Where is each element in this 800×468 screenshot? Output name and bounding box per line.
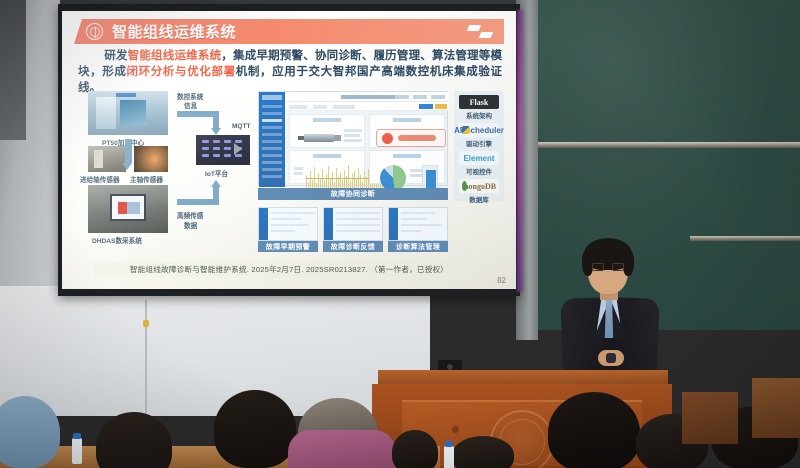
tech-caption-widgets: 可视控件	[454, 166, 504, 176]
thumb-algorithm-management	[388, 207, 448, 241]
left-wall-fixture	[0, 0, 26, 140]
label-spindle-sensor: 主轴传感器	[130, 174, 163, 184]
audience-head	[214, 390, 296, 468]
alarm-indicator	[376, 129, 446, 147]
audience-head	[392, 430, 438, 468]
dashboard-sidebar	[259, 92, 285, 187]
dashboard-primary-button[interactable]	[419, 104, 433, 109]
arrow-down-shaft-1	[125, 139, 132, 163]
tech-caption-database: 数据库	[454, 194, 504, 204]
label-cnc-info-line2: 信息	[184, 100, 197, 110]
slide-title-bar: 智能组线运维系统	[74, 19, 504, 44]
apscheduler-logo-icon: APScheduler	[459, 123, 499, 137]
alarm-dot-icon	[382, 133, 393, 144]
presentation-slide: 智能组线运维系统 研发智能组线运维系统，集成早期预警、协同诊断、履历管理、算法管…	[62, 11, 516, 289]
dashboard-card-distribution	[369, 150, 445, 184]
label-feed-axis-sensor: 进给轴传感器	[80, 174, 120, 184]
chalkboard-rail	[536, 142, 800, 148]
element-logo-icon: Element	[459, 151, 499, 165]
projection-screen: 智能组线运维系统 研发智能组线运维系统，集成早期预警、协同诊断、履历管理、算法管…	[58, 4, 520, 296]
whiteboard	[0, 286, 430, 416]
slide-caption: 智能组线故障诊断与智能维护系统. 2025年2月7日. 2025SR021382…	[94, 261, 484, 277]
thumb-early-warning	[258, 207, 318, 241]
audience-head	[96, 412, 172, 468]
thumb-diagnosis-feedback	[323, 207, 383, 241]
body-line1-pre: 研发	[104, 50, 128, 62]
arrow-elbow-top-v	[213, 111, 219, 129]
chair-back	[682, 392, 738, 444]
dashboard-screenshots: 故障协同诊断 故障早期预警 故障诊断反馈	[258, 91, 448, 256]
university-emblem-icon	[86, 23, 103, 40]
band-algorithm-management: 诊断算法管理	[388, 241, 448, 252]
arrow-down-head-1	[122, 163, 132, 170]
audience-shoulders	[288, 430, 396, 468]
screen-edge-glow	[517, 10, 523, 292]
data-flow-diagram: PT50加工中心 进给轴传感器 主轴传感器 DHDAS数采系统 数控系统 信息	[78, 91, 243, 251]
dashboard-toolbar	[285, 102, 449, 111]
photo-pt50-machining-center	[88, 91, 168, 135]
label-dhdas: DHDAS数采系统	[92, 235, 142, 245]
screen-pull-knob[interactable]	[143, 320, 149, 327]
screen-pull-cord[interactable]	[145, 300, 147, 420]
band-diagnosis-feedback: 故障诊断反馈	[323, 241, 383, 252]
body-line2-highlight: 闭环分析与优化部署	[127, 66, 236, 78]
photo-feed-axis-sensor	[88, 146, 126, 172]
dashboard-card-waveform	[289, 150, 365, 184]
chalkboard-rail-lower	[690, 236, 800, 241]
arrow-elbow-bottom-h	[177, 199, 219, 205]
water-bottle	[444, 446, 454, 468]
band-collaborative-diagnosis: 故障协同诊断	[258, 188, 448, 200]
band-early-warning: 故障早期预警	[258, 241, 318, 252]
audience-head	[452, 436, 514, 468]
dashboard-card-spindle	[289, 114, 365, 148]
tech-stack-panel: Flask 系统架构 APScheduler 驱动引擎 Element 可视控件…	[454, 91, 504, 201]
slide-body-text: 研发智能组线运维系统，集成早期预警、协同诊断、履历管理、算法管理等模块，形成闭环…	[78, 48, 502, 96]
label-hf-sensor-line1: 高频传感	[177, 210, 203, 220]
label-mqtt: MQTT	[232, 123, 242, 131]
body-line1-highlight: 智能组线运维系统	[128, 50, 222, 62]
corner-logo-icon	[468, 25, 494, 38]
slide-title: 智能组线运维系统	[112, 21, 236, 42]
arrow-head-to-iot-bottom	[211, 180, 221, 187]
dashboard-header	[285, 92, 449, 102]
flask-logo-icon: Flask	[459, 95, 499, 109]
photo-dhdas-system	[88, 185, 168, 233]
arrow-head-to-iot-top	[211, 128, 221, 135]
hands-holding-clicker	[598, 350, 624, 366]
dashboard-card-alarm	[369, 114, 445, 148]
arrow-head-mqtt	[234, 143, 242, 155]
water-bottle	[72, 438, 82, 464]
lecture-hall-scene: 智能组线运维系统 研发智能组线运维系统，集成早期预警、协同诊断、履历管理、算法管…	[0, 0, 800, 468]
presenter	[548, 228, 676, 388]
audience-head	[548, 392, 640, 468]
body-line2-pre: 形成	[102, 66, 126, 78]
label-iot-platform: IoT平台	[205, 168, 228, 178]
eyeglasses-icon	[592, 263, 624, 271]
label-hf-sensor-line2: 数据	[184, 220, 197, 230]
dashboard-main-screenshot	[258, 91, 448, 186]
photo-spindle-sensor	[134, 146, 168, 172]
chair-back	[752, 378, 800, 438]
spindle-illustration	[298, 131, 342, 145]
tech-caption-engine: 驱动引擎	[454, 138, 504, 148]
dashboard-secondary-button[interactable]	[435, 104, 447, 109]
mongodb-logo-icon: mongoDB	[459, 179, 499, 193]
hair-side-right	[623, 250, 634, 276]
tech-caption-architecture: 系统架构	[454, 110, 504, 120]
slide-number: 82	[497, 276, 506, 285]
podium-knob	[452, 426, 459, 433]
